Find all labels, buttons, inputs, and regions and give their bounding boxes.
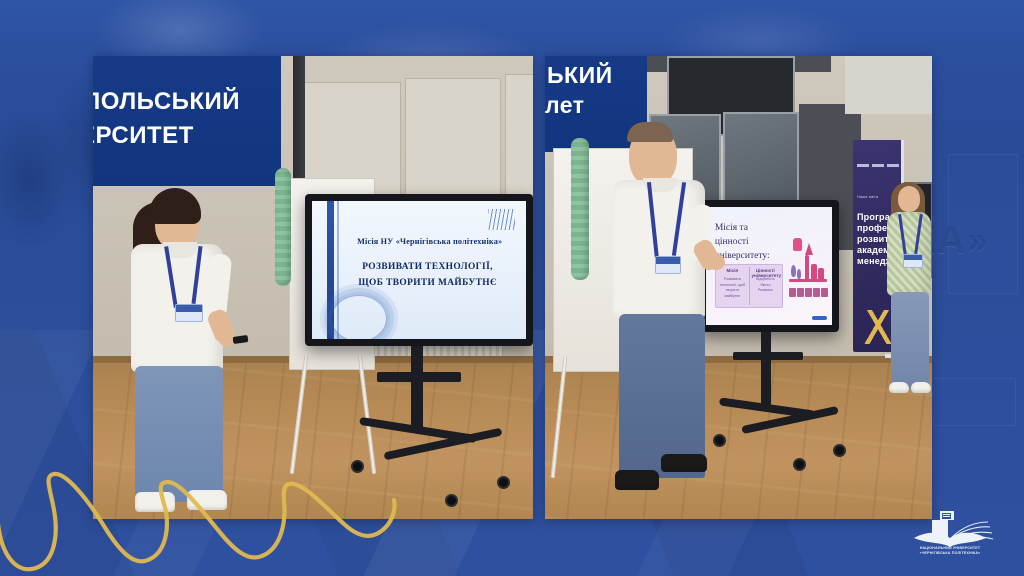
tree-b xyxy=(797,269,801,279)
id-badge xyxy=(903,254,923,268)
card-right-body: Відкритість Якість Розвиток xyxy=(752,277,778,293)
display-stand-pole-left xyxy=(411,346,423,428)
building-block-a xyxy=(811,264,818,280)
presentation-clicker[interactable] xyxy=(233,335,249,344)
tree-a xyxy=(791,265,796,277)
logo-line-2: «ЧЕРНІГІВСЬКА ПОЛІТЕХНІКА» xyxy=(898,551,1002,556)
jeans xyxy=(891,292,929,388)
badge-header-band xyxy=(656,257,680,264)
slide-line-1: РОЗВИВАТИ ТЕХНОЛОГІЇ, xyxy=(342,262,513,272)
card-right-header: Цінності університету xyxy=(751,268,779,278)
slide-kicker: Місія НУ «Чернігівська політехніка» xyxy=(346,237,513,246)
slide-wave-mark xyxy=(331,295,387,339)
photo-presenter-man-and-colleague: ЬКИЙ лет Місія та цінності університету:… xyxy=(545,56,932,519)
display-screen-left: Місія НУ «Чернігівська політехніка» РОЗВ… xyxy=(312,201,526,339)
icon-item xyxy=(789,288,795,297)
id-badge xyxy=(655,256,681,274)
rollup-logo-mark xyxy=(857,164,869,167)
rollup-logo-row xyxy=(857,157,899,174)
man-presenter-pointing xyxy=(601,118,731,519)
stand-caster-right-c xyxy=(833,444,846,457)
tower-body xyxy=(805,255,809,278)
green-paper-roll-right xyxy=(571,138,589,280)
wall-banner-line2: ЕРСИТЕТ xyxy=(93,122,194,150)
ground-strip xyxy=(789,279,827,282)
shoe-right xyxy=(911,382,931,393)
hair-short xyxy=(627,122,673,142)
stand-caster-b xyxy=(445,494,458,507)
chernihiv-polytechnic-logo: НАЦІОНАЛЬНИЙ УНІВЕРСИТЕТ «ЧЕРНІГІВСЬКА П… xyxy=(898,504,1002,558)
woman-standing-by-banner xyxy=(879,178,932,418)
display-stand-pole-right xyxy=(761,332,771,406)
icon-item xyxy=(813,288,819,297)
display-stand-shelf-left xyxy=(377,372,461,382)
photo-presenter-woman: ПОЛЬСЬКИЙ ЕРСИТЕТ Місія НУ «Чернігівська… xyxy=(93,56,533,519)
slide-mission: Місія НУ «Чернігівська політехніка» РОЗВ… xyxy=(312,201,526,339)
wall-banner-line1: ПОЛЬСЬКИЙ xyxy=(93,88,240,116)
gold-signature-flourish xyxy=(0,462,412,576)
shoe-right xyxy=(661,454,707,472)
wall-banner-left: ПОЛЬСЬКИЙ ЕРСИТЕТ xyxy=(93,56,281,186)
slide-artwork xyxy=(787,238,830,306)
shoe-left xyxy=(889,382,909,393)
icon-item xyxy=(805,288,811,297)
stand-caster-c xyxy=(497,476,510,489)
id-badge xyxy=(175,304,203,322)
rollup-eyebrow: Наша мета xyxy=(857,195,878,199)
card-divider xyxy=(749,267,750,305)
wall-banner-right-line1: ЬКИЙ xyxy=(547,62,613,89)
slide-line-2: ЩОБ ТВОРИТИ МАЙБУТНЄ xyxy=(342,278,513,288)
icon-row xyxy=(789,288,828,297)
pointing-hand xyxy=(707,254,725,270)
badge-header-band xyxy=(904,255,922,260)
badge-rays xyxy=(488,209,516,230)
interactive-display-left[interactable]: Місія НУ «Чернігівська політехніка» РОЗВ… xyxy=(305,194,533,346)
wall-banner-right-line2: лет xyxy=(545,92,585,119)
icon-item xyxy=(797,288,803,297)
wall-light-block xyxy=(845,56,932,114)
green-paper-roll xyxy=(275,168,291,286)
hair-top xyxy=(149,188,201,224)
stand-caster-right-b xyxy=(793,458,806,471)
rollup-logo-mark xyxy=(872,164,884,167)
tower-spire xyxy=(805,243,813,255)
tshirt-icon xyxy=(793,238,802,252)
shoe-left xyxy=(615,470,659,490)
head xyxy=(898,186,920,212)
rollup-logo-mark xyxy=(887,164,899,167)
anniversary-badge xyxy=(488,209,516,230)
slide-page-button[interactable] xyxy=(812,316,827,321)
slide-canvas: КА» ПОЛЬСЬКИЙ ЕРСИТЕТ xyxy=(0,0,1024,576)
display-stand-shelf-right xyxy=(733,352,803,360)
badge-header-band xyxy=(176,305,202,312)
icon-item xyxy=(821,288,827,297)
